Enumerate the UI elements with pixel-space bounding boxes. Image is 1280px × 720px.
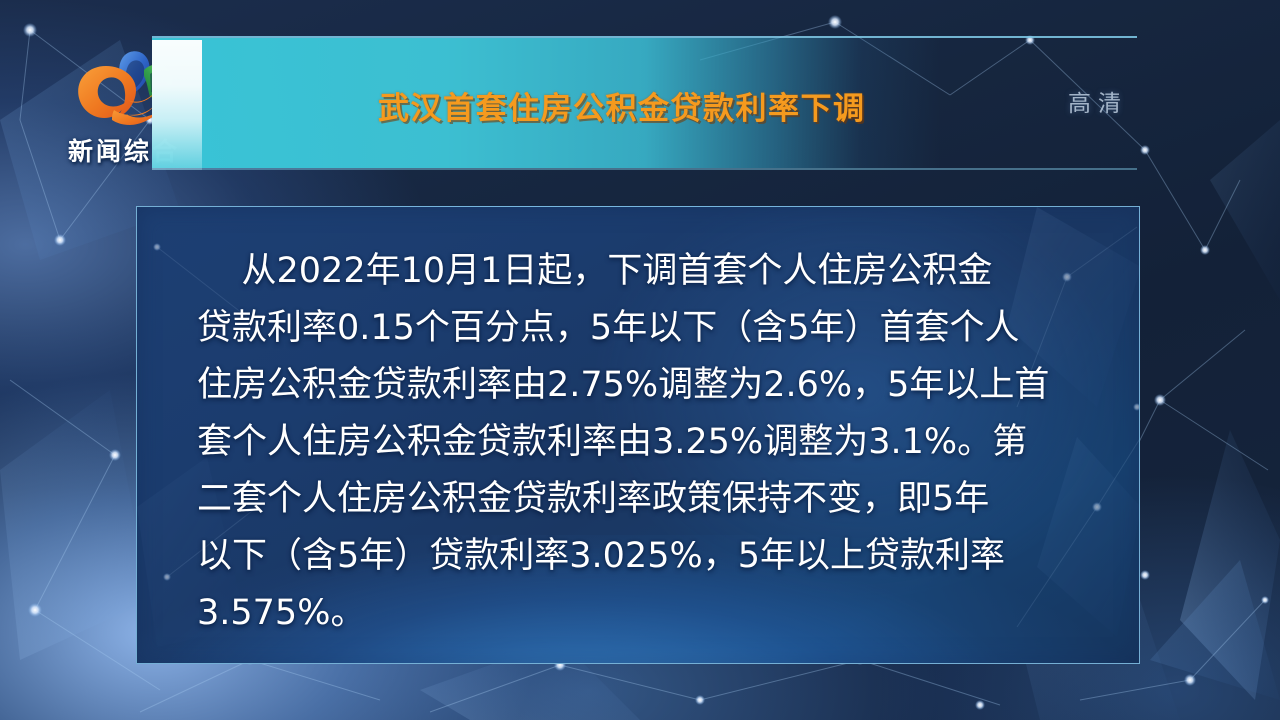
hd-quality-badge: 高清: [1068, 84, 1128, 118]
banner-left-white-strip: [152, 40, 202, 170]
news-body-text: 从2022年10月1日起，下调首套个人住房公积金 贷款利率0.15个百分点，5年…: [197, 243, 1099, 642]
broadcast-screen: 新闻综合 武汉首套住房公积金贷款利率下调 高清: [0, 0, 1280, 720]
title-banner: 武汉首套住房公积金贷款利率下调: [152, 36, 1137, 170]
news-content-card: 从2022年10月1日起，下调首套个人住房公积金 贷款利率0.15个百分点，5年…: [136, 206, 1140, 664]
page-title: 武汉首套住房公积金贷款利率下调: [378, 38, 1137, 172]
